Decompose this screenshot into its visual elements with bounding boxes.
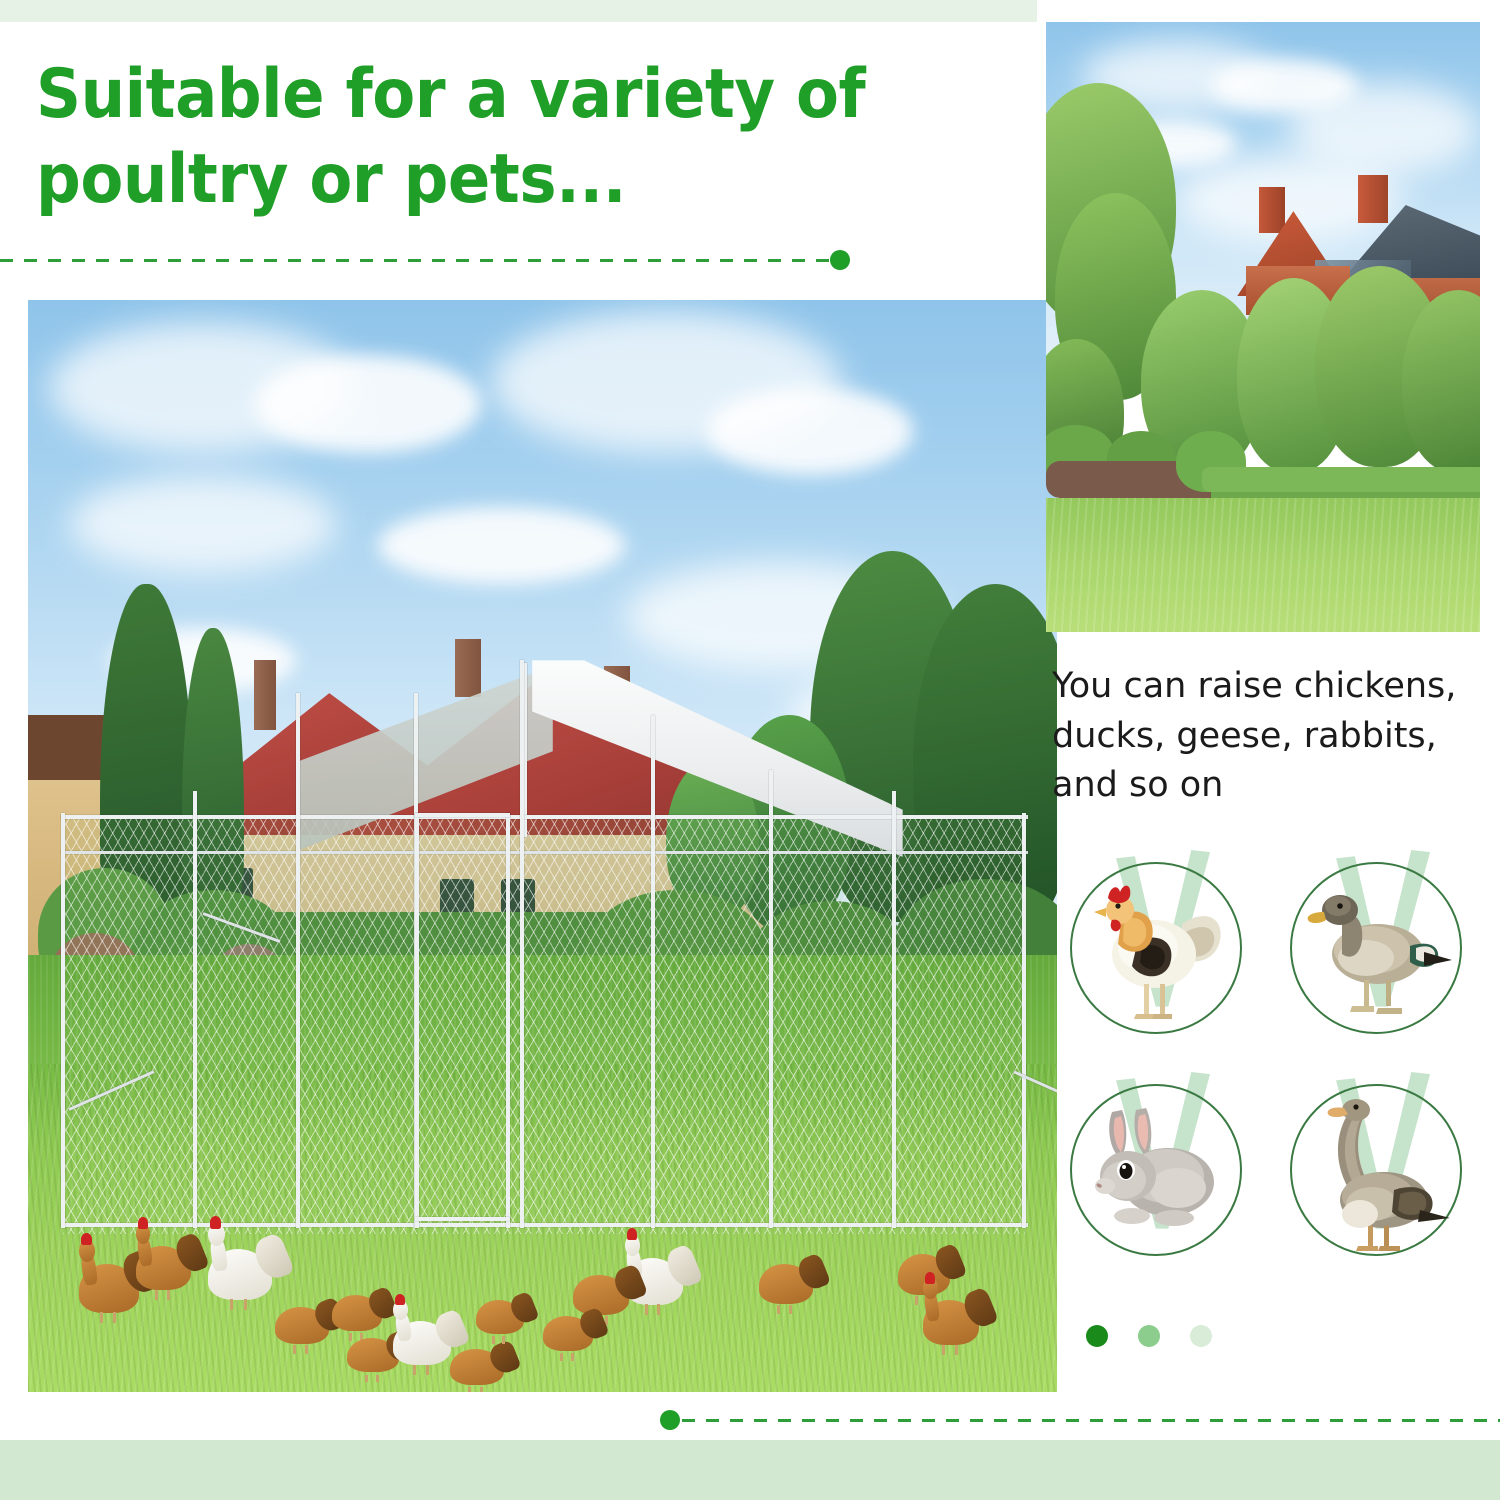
duck-icon[interactable]: [1282, 848, 1482, 1053]
chicken: [275, 1294, 329, 1354]
page-title: Suitable for a variety of poultry or pet…: [36, 52, 919, 222]
pagination-dot-3[interactable]: [1190, 1325, 1212, 1347]
goose-illustration: [1290, 1084, 1462, 1256]
chicken: [393, 1305, 451, 1375]
hero-product-photo: [28, 300, 1057, 1392]
duck-illustration: [1290, 862, 1462, 1034]
chicken: [476, 1288, 524, 1344]
bottom-accent-band: [0, 1440, 1500, 1500]
pagination-dot-2[interactable]: [1138, 1325, 1160, 1347]
yard-landscape-photo: [1046, 22, 1480, 632]
divider-end-dot: [830, 250, 850, 270]
chicken: [136, 1228, 191, 1300]
suitable-animals-grid: [1062, 848, 1482, 1278]
chicken: [347, 1326, 399, 1382]
chicken: [759, 1250, 813, 1314]
chicken: [208, 1228, 272, 1310]
divider-start-dot: [660, 1410, 680, 1430]
top-accent-band: [0, 0, 1037, 22]
dashed-divider-bottom: [660, 1410, 1500, 1430]
pagination-dot-1[interactable]: [1086, 1325, 1108, 1347]
product-feature-slide: Suitable for a variety of poultry or pet…: [0, 0, 1500, 1500]
dashed-divider-top: [0, 250, 860, 270]
right-margin: [1480, 0, 1500, 1440]
rabbit-icon[interactable]: [1062, 1070, 1262, 1275]
chicken: [543, 1305, 593, 1361]
rooster-icon[interactable]: [1062, 848, 1262, 1053]
divider-dash-line: [0, 259, 836, 262]
chicken: [923, 1283, 979, 1355]
rooster-illustration: [1070, 862, 1242, 1034]
goose-icon[interactable]: [1282, 1070, 1482, 1275]
divider-dash-line: [682, 1419, 1500, 1422]
rabbit-illustration: [1070, 1084, 1242, 1256]
supporting-copy: You can raise chickens, ducks, geese, ra…: [1052, 662, 1482, 811]
chicken: [450, 1337, 504, 1392]
carousel-pagination[interactable]: [1086, 1325, 1212, 1347]
chicken: [79, 1245, 139, 1323]
